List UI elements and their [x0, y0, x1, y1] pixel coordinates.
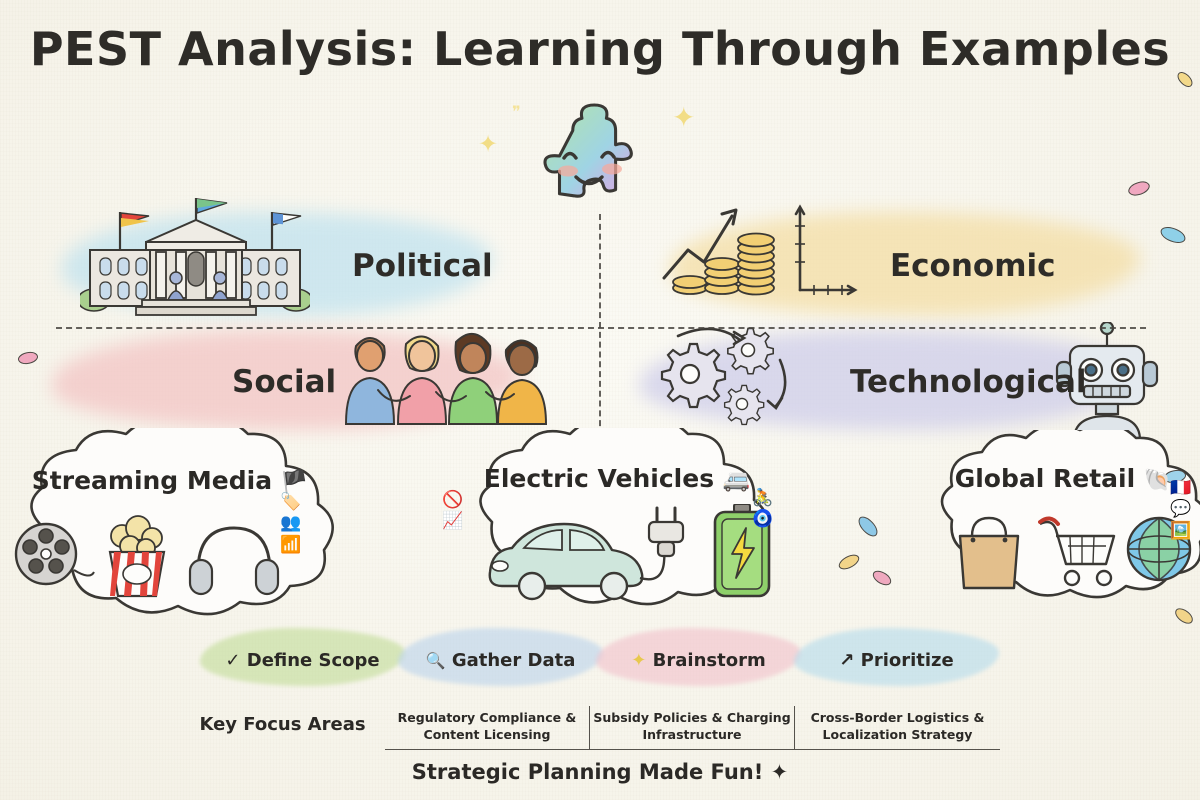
- page-title: PEST Analysis: Learning Through Examples: [0, 22, 1200, 76]
- quadrant-horizontal-divider: [56, 327, 1146, 329]
- bubble-title-electric-vehicles: Electric Vehicles 🚐: [432, 464, 802, 493]
- gears-icon: [656, 312, 816, 436]
- frame-icon: 🖼️: [1170, 521, 1191, 542]
- quadrant-label-economic: Economic: [890, 248, 1056, 284]
- quadrant-vertical-divider: [599, 214, 601, 436]
- power-plug-icon: [644, 506, 688, 570]
- green-van-icon: 🚐: [723, 468, 750, 493]
- step-label-3: ↗ Prioritize: [794, 650, 999, 671]
- smiling-puzzle-piece-icon: [520, 98, 650, 218]
- check-icon: ✓: [225, 650, 240, 671]
- step-define-scope[interactable]: ✓ Define Scope: [200, 628, 405, 686]
- step-gather-data[interactable]: 🔍 Gather Data: [398, 628, 603, 686]
- price-tag-icon: 🏷️: [280, 492, 301, 513]
- shell-icon: 🐚: [1144, 468, 1171, 493]
- bubble-title-global-retail: Global Retail 🐚: [898, 464, 1200, 493]
- step-label-2: ✦ Brainstorm: [596, 650, 801, 671]
- sparkle-icon-left: ✦: [478, 132, 498, 156]
- no-emissions-icon: 🚫: [442, 490, 463, 511]
- headphones-icon: [188, 516, 280, 600]
- people-holding-hands-icon: [332, 312, 562, 436]
- quadrant-social[interactable]: Social: [52, 324, 600, 440]
- focus-table-header: Key Focus Areas: [190, 714, 375, 735]
- government-building-icon: [80, 194, 310, 322]
- confetti-piece: [1159, 225, 1188, 245]
- speech-bubble-icon: 💬: [1170, 499, 1191, 520]
- confetti-piece: [855, 514, 882, 539]
- confetti-piece: [837, 551, 862, 573]
- wifi-icon: 📶: [280, 535, 301, 556]
- bubble-mini-icons-streaming: 🏷️ 👥 📶: [280, 492, 301, 556]
- example-bubble-electric-vehicles[interactable]: Electric Vehicles 🚐: [432, 428, 802, 622]
- ai-chip-icon: 🧿: [752, 509, 773, 530]
- people-icon: 👥: [280, 513, 301, 534]
- example-bubble-global-retail[interactable]: Global Retail 🐚: [898, 430, 1200, 620]
- quadrant-technological[interactable]: Technological: [600, 324, 1148, 440]
- quadrant-political[interactable]: Political: [52, 208, 600, 324]
- step-prioritize[interactable]: ↗ Prioritize: [794, 628, 999, 686]
- sparkle-icon-right: ✦: [672, 104, 695, 132]
- quadrant-label-technological: Technological: [850, 364, 1087, 400]
- footer-tagline: Strategic Planning Made Fun! ✦: [0, 760, 1200, 784]
- shopping-cart-icon: [1038, 514, 1122, 594]
- step-label-1: 🔍 Gather Data: [398, 650, 603, 671]
- quadrant-economic[interactable]: Economic: [600, 208, 1148, 324]
- quadrant-label-social: Social: [232, 364, 336, 400]
- sparkle-icon: ✦: [631, 650, 646, 671]
- bubble-mini-icons-ev-left: 🚫 📈: [442, 490, 463, 533]
- cyclist-icon: 🚴: [752, 488, 773, 509]
- example-bubble-streaming-media[interactable]: Streaming Media 🏴: [0, 428, 360, 622]
- arrow-up-right-icon: ↗: [839, 650, 854, 671]
- search-icon: 🔍: [426, 651, 446, 670]
- step-brainstorm[interactable]: ✦ Brainstorm: [596, 628, 801, 686]
- shopping-bag-icon: [954, 512, 1024, 596]
- focus-cell-political: Regulatory Compliance & Content Licensin…: [385, 706, 590, 750]
- process-steps-row: ✓ Define Scope 🔍 Gather Data ✦ Brainstor…: [200, 628, 1000, 690]
- focus-cell-technological: Cross-Border Logistics & Localization St…: [795, 706, 1000, 750]
- quadrant-label-political: Political: [352, 248, 493, 284]
- key-focus-areas-table: Key Focus Areas Regulatory Compliance & …: [190, 706, 1000, 750]
- bubble-mini-icons-retail: 🇫🇷 💬 🖼️: [1170, 478, 1191, 542]
- film-reel-icon: [6, 520, 96, 594]
- bubble-title-streaming-media: Streaming Media 🏴: [0, 466, 360, 495]
- popcorn-icon: [96, 514, 176, 602]
- confetti-piece: [17, 349, 40, 367]
- infographic-canvas: PEST Analysis: Learning Through Examples…: [0, 0, 1200, 800]
- confetti-piece: [1126, 178, 1152, 200]
- coin-stack-growth-chart-icon: [648, 192, 858, 320]
- focus-cell-economic: Subsidy Policies & Charging Infrastructu…: [590, 706, 795, 750]
- chart-icon: 📈: [442, 511, 463, 532]
- confetti-piece: [870, 569, 893, 588]
- step-label-0: ✓ Define Scope: [200, 650, 405, 671]
- france-flag-icon: 🇫🇷: [1170, 478, 1191, 499]
- bubble-mini-icons-ev-right: 🚴 🧿: [752, 488, 773, 531]
